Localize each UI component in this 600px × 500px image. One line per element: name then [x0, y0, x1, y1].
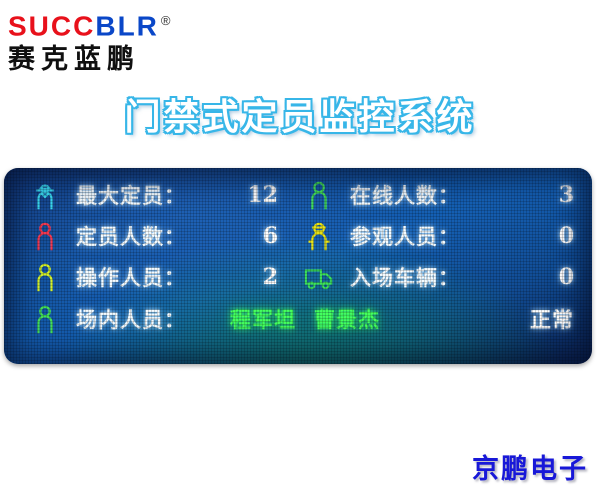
led-row: 最大定员： 12 在线人数： 3: [4, 174, 592, 215]
led-onsite-names: 程军坦曹景杰: [230, 304, 380, 334]
status-badge: 正常: [530, 304, 574, 334]
led-field-max-capacity: 最大定员： 12: [4, 174, 296, 215]
led-field-visitor-count: 参观人员： 0: [296, 215, 592, 256]
led-field-people-onsite: 场内人员： 程军坦曹景杰 正常: [4, 299, 592, 340]
brand-logo: SUCCBLR® 赛克蓝鹏: [8, 6, 228, 76]
brand-chinese-name: 赛克蓝鹏: [8, 43, 228, 77]
led-field-quota-count: 定员人数： 6: [4, 215, 296, 256]
led-value: 2: [263, 264, 278, 290]
led-label: 最大定员：: [76, 180, 186, 210]
led-value: 6: [263, 223, 278, 249]
led-row: 场内人员： 程军坦曹景杰 正常: [4, 297, 592, 341]
led-label: 定员人数：: [76, 221, 186, 251]
registered-trademark-icon: ®: [161, 13, 173, 28]
brand-wordmark-part2: BLR: [95, 10, 159, 41]
led-onsite-name: 程军坦: [230, 308, 296, 332]
person-icon: [30, 262, 60, 292]
led-rows-container: 最大定员： 12 在线人数： 3: [4, 174, 592, 341]
led-label: 参观人员：: [350, 221, 460, 251]
brand-wordmark: SUCCBLR®: [8, 6, 228, 41]
led-display-panel: 最大定员： 12 在线人数： 3: [4, 168, 592, 364]
footer-brand: 京鹏电子: [472, 447, 588, 486]
brand-wordmark-part1: SUCC: [8, 10, 95, 41]
person-hardhat-icon: [30, 180, 60, 210]
led-row: 定员人数： 6 参观人员： 0: [4, 215, 592, 256]
led-value: 0: [559, 223, 574, 249]
led-value: 12: [247, 182, 278, 208]
led-label: 操作人员：: [76, 262, 186, 292]
person-visitor-icon: [304, 221, 334, 251]
person-icon: [30, 304, 60, 334]
led-onsite-name: 曹景杰: [314, 308, 380, 332]
person-icon: [30, 221, 60, 251]
led-field-online-count: 在线人数： 3: [296, 174, 592, 215]
led-value: 0: [559, 264, 574, 290]
led-value: 3: [559, 182, 574, 208]
led-label: 在线人数：: [350, 180, 460, 210]
person-icon: [304, 180, 334, 210]
page-title: 门禁式定员监控系统: [0, 88, 600, 140]
led-label: 场内人员：: [76, 304, 186, 334]
led-field-vehicle-count: 入场车辆： 0: [296, 256, 592, 297]
led-row: 操作人员： 2 入场车辆： 0: [4, 256, 592, 297]
led-field-operator-count: 操作人员： 2: [4, 256, 296, 297]
led-label: 入场车辆：: [350, 262, 460, 292]
truck-icon: [304, 262, 334, 292]
